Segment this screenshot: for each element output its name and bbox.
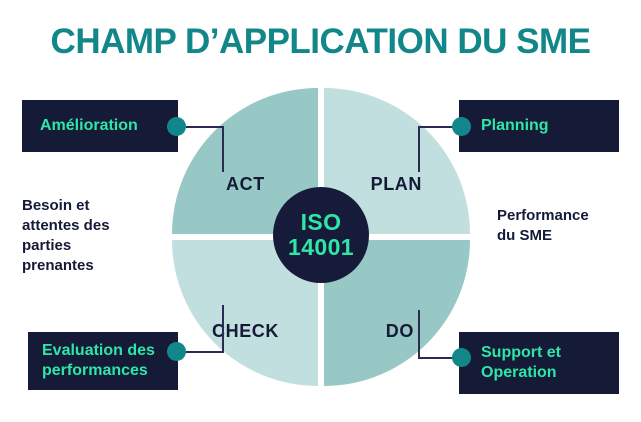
connector-line-support-horizontal xyxy=(418,357,456,359)
callout-planning[interactable]: Planning xyxy=(459,100,619,152)
connector-line-support-vertical xyxy=(418,310,420,359)
page-title: CHAMP D’APPLICATION DU SME xyxy=(0,22,641,62)
connector-line-planning-vertical xyxy=(418,126,420,172)
hub-standard-name: ISO xyxy=(301,210,342,235)
connector-dot-evaluation xyxy=(167,342,186,361)
callout-label-amelioration: Amélioration xyxy=(40,116,138,136)
connector-dot-planning xyxy=(452,117,471,136)
side-note-left: Besoin et attentes des parties prenantes xyxy=(22,196,162,276)
connector-line-amelioration-vertical xyxy=(222,126,224,172)
iso-hub-badge: ISO 14001 xyxy=(273,187,369,283)
connector-line-evaluation-vertical xyxy=(222,305,224,353)
callout-amelioration[interactable]: Amélioration xyxy=(22,100,178,152)
pdca-wheel: ACT PLAN CHECK DO ISO 14001 xyxy=(172,88,470,386)
connector-line-planning-horizontal xyxy=(418,126,456,128)
side-note-right: Performance du SME xyxy=(497,206,632,246)
callout-label-evaluation: Evaluation des performances xyxy=(42,341,155,381)
connector-dot-amelioration xyxy=(167,117,186,136)
quadrant-label-do: DO xyxy=(386,321,414,342)
hub-standard-number: 14001 xyxy=(288,235,354,260)
connector-dot-support xyxy=(452,348,471,367)
connector-line-evaluation-horizontal xyxy=(185,351,224,353)
infographic-canvas: CHAMP D’APPLICATION DU SME ACT PLAN CHEC… xyxy=(0,0,641,422)
quadrant-label-plan: PLAN xyxy=(371,174,422,195)
connector-line-amelioration-horizontal xyxy=(185,126,224,128)
callout-label-support: Support et Operation xyxy=(481,343,561,383)
callout-support[interactable]: Support et Operation xyxy=(459,332,619,394)
callout-label-planning: Planning xyxy=(481,116,549,136)
quadrant-label-act: ACT xyxy=(226,174,265,195)
callout-evaluation[interactable]: Evaluation des performances xyxy=(28,332,178,390)
